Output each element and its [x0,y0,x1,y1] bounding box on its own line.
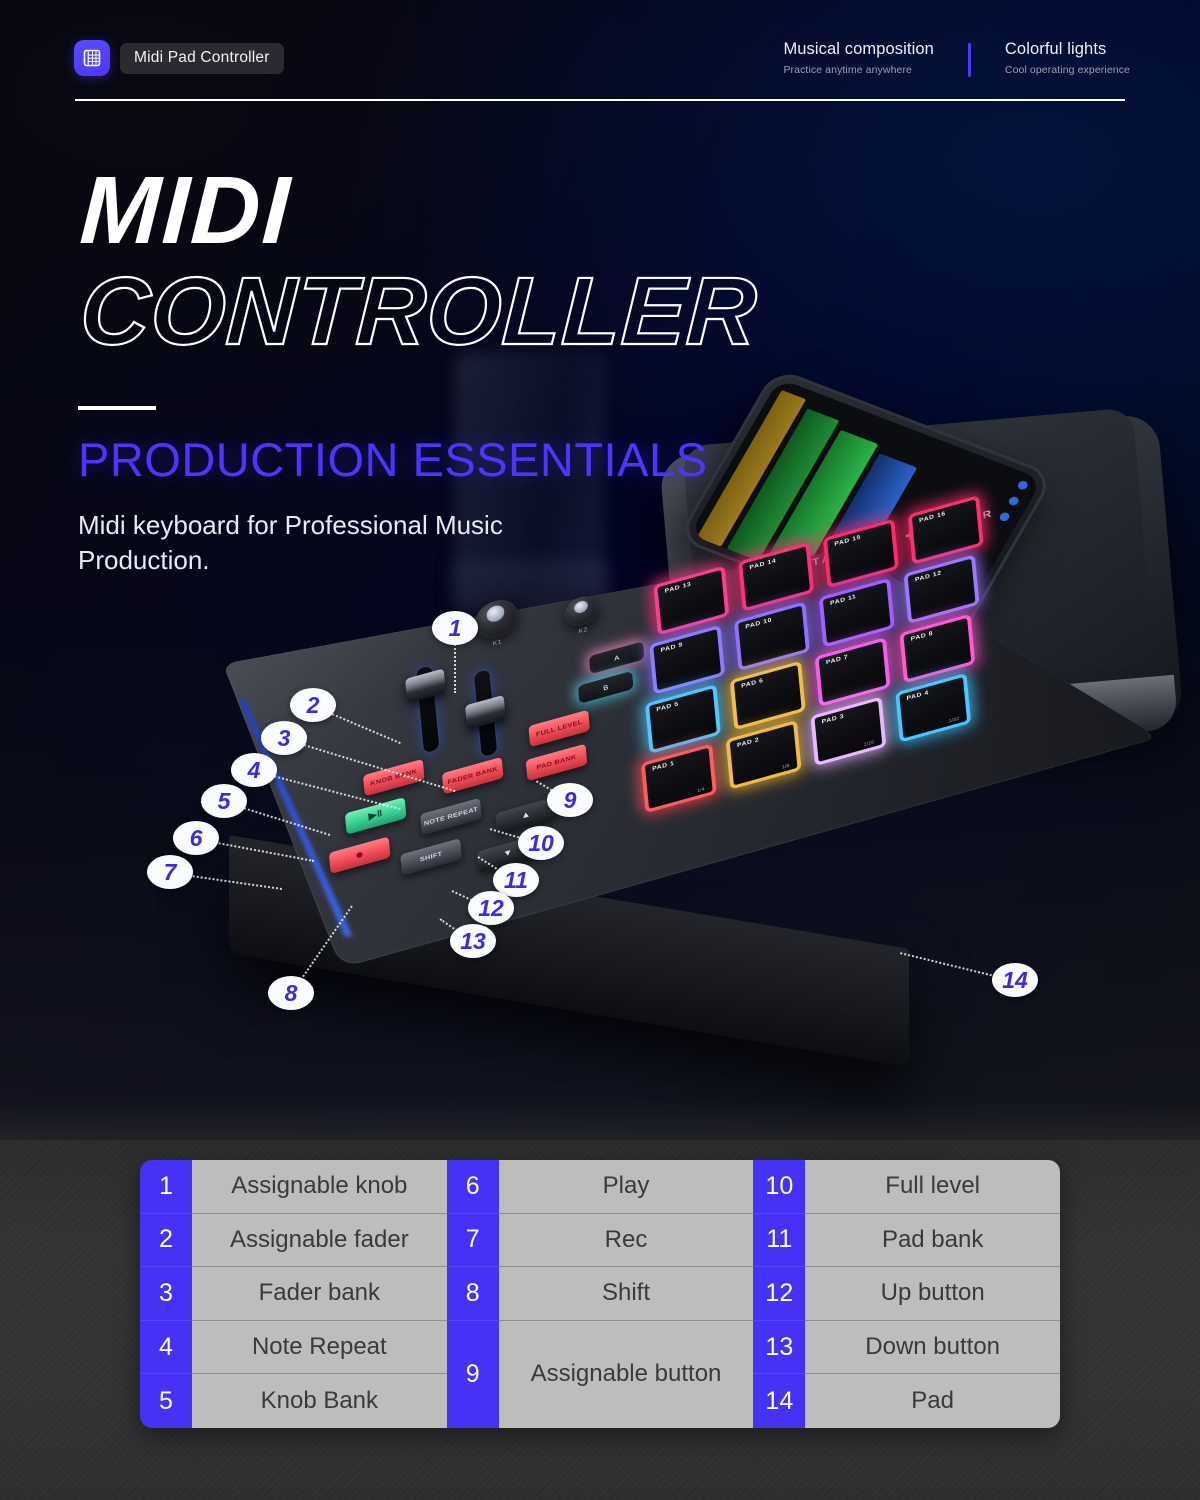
legend-row: 9Assignable button [447,1321,754,1428]
legend-number: 1 [140,1160,192,1214]
legend-label: Knob Bank [192,1374,447,1428]
legend-number: 3 [140,1267,192,1321]
callout-marker-13[interactable]: 13 [450,924,496,958]
legend-label: Play [499,1160,754,1214]
feature-title: Musical composition [783,40,933,59]
legend-row: 2Assignable fader [140,1214,447,1268]
legend-number: 9 [447,1321,499,1428]
feature-subtitle: Cool operating experience [1005,64,1130,76]
legend-number: 11 [753,1214,805,1268]
legend-number: 5 [140,1374,192,1428]
feature-subtitle: Practice anytime anywhere [783,64,933,76]
hero-title-line2: CONTROLLER [78,263,760,361]
legend-label: Down button [805,1321,1060,1375]
legend-label: Full level [805,1160,1060,1214]
callout-marker-2[interactable]: 2 [290,688,336,722]
legend-row: 10Full level [753,1160,1060,1214]
legend-row: 13Down button [753,1321,1060,1375]
legend-number: 6 [447,1160,499,1214]
pad-grid-icon [74,40,110,76]
callout-marker-9[interactable]: 9 [547,783,593,817]
legend-label: Rec [499,1214,754,1268]
legend-table: 1Assignable knob2Assignable fader3Fader … [140,1160,1060,1428]
top-bar: Midi Pad Controller Musical composition … [0,0,1200,110]
legend-row: 3Fader bank [140,1267,447,1321]
callout-leader-line-4 [254,770,400,810]
callout-marker-3[interactable]: 3 [261,721,307,755]
legend-row: 4Note Repeat [140,1321,447,1375]
callout-marker-10[interactable]: 10 [518,826,564,860]
legend-row: 14Pad [753,1374,1060,1428]
header-divider-rule [75,99,1125,101]
callout-marker-5[interactable]: 5 [201,784,247,818]
legend-number: 7 [447,1214,499,1268]
legend-column-1: 1Assignable knob2Assignable fader3Fader … [140,1160,447,1428]
feature-musical-composition: Musical composition Practice anytime any… [783,40,967,76]
infographic-page: K1 K2 KNOB BANK FADER BANK FULL LEVEL PA… [0,0,1200,1500]
brand-label: Midi Pad Controller [120,43,284,74]
legend-row: 8Shift [447,1267,754,1321]
feature-title: Colorful lights [1005,40,1130,59]
legend-label: Up button [805,1267,1060,1321]
hero-title-line1: MIDI [78,165,759,257]
callout-marker-6[interactable]: 6 [173,821,219,855]
legend-row: 12Up button [753,1267,1060,1321]
legend-label: Assignable fader [192,1214,447,1268]
legend-label: Assignable knob [192,1160,447,1214]
legend-label: Pad [805,1374,1060,1428]
legend-number: 13 [753,1321,805,1375]
legend-label: Pad bank [805,1214,1060,1268]
callout-marker-14[interactable]: 14 [992,963,1038,997]
callout-marker-7[interactable]: 7 [147,855,193,889]
header-features: Musical composition Practice anytime any… [783,40,1130,77]
legend-row: 7Rec [447,1214,754,1268]
legend-number: 8 [447,1267,499,1321]
legend-label: Fader bank [192,1267,447,1321]
legend-row: 6Play [447,1160,754,1214]
legend-number: 4 [140,1321,192,1375]
callout-marker-8[interactable]: 8 [268,976,314,1010]
legend-number: 12 [753,1267,805,1321]
hero-subtitle: PRODUCTION ESSENTIALS [78,432,707,487]
hero-accent-dash [78,406,156,410]
legend-label: Note Repeat [192,1321,447,1375]
callout-marker-1[interactable]: 1 [432,611,478,645]
legend-column-3: 10Full level11Pad bank12Up button13Down … [753,1160,1060,1428]
callout-marker-4[interactable]: 4 [231,753,277,787]
legend-row: 1Assignable knob [140,1160,447,1214]
legend-label: Shift [499,1267,754,1321]
legend-label: Assignable button [499,1321,754,1428]
hero-headline: MIDI CONTROLLER [78,165,755,361]
callout-marker-12[interactable]: 12 [468,891,514,925]
legend-number: 10 [753,1160,805,1214]
legend-row: 11Pad bank [753,1214,1060,1268]
brand-chip: Midi Pad Controller [74,40,284,76]
legend-number: 2 [140,1214,192,1268]
hero-description: Midi keyboard for Professional Music Pro… [78,508,598,579]
legend-column-2: 6Play7Rec8Shift9Assignable button [447,1160,754,1428]
legend-number: 14 [753,1374,805,1428]
feature-colorful-lights: Colorful lights Cool operating experienc… [971,40,1130,76]
legend-row: 5Knob Bank [140,1374,447,1428]
